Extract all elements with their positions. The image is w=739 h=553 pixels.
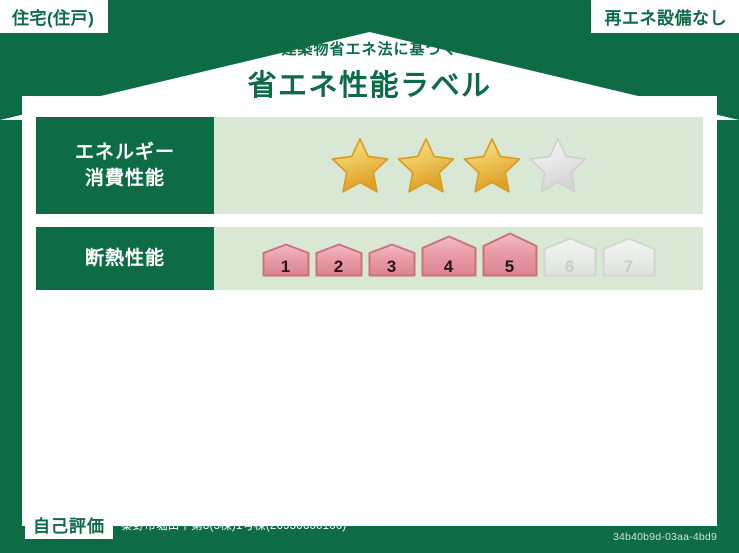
star-icon-filled [329,136,391,195]
energy-label-line2: 消費性能 [85,166,165,192]
house-level-number: 4 [421,257,477,277]
footer-left-group: 自己評価 秦野市堀山下第8(3棟)1号棟(26930600100) [25,510,346,539]
house-level-number: 3 [368,257,416,277]
house-icon-active: 4 [421,235,477,282]
house-level-number: 7 [602,257,656,277]
building-type-tag: 住宅(住戸) [0,0,108,33]
star-rating [329,136,589,195]
star-icon-empty [527,136,589,195]
house-level-number: 1 [262,257,310,277]
energy-label-line1: エネルギー [75,140,175,166]
insulation-performance-row: 断熱性能 1234567 [36,227,703,290]
label-card: エネルギー 消費性能 断熱性能 1234567 [22,108,717,489]
evaluation-id: 34b40b9d-03aa-4bd9 [560,531,717,543]
house-icon-active: 3 [368,243,416,282]
footer-right-group: 評価日 2025年9月12日 34b40b9d-03aa-4bd9 [560,508,717,543]
energy-performance-label: 住宅(住戸) 再エネ設備なし 建築物省エネ法に基づく 省エネ性能ラベル エネルギ… [0,0,739,553]
house-level-scale: 1234567 [262,232,656,286]
star-icon-filled [395,136,457,195]
house-level-number: 6 [543,257,597,277]
house-level-number: 5 [482,257,538,277]
label-title: 省エネ性能ラベル [0,62,739,104]
energy-performance-row: エネルギー 消費性能 [36,117,703,214]
house-icon-inactive: 6 [543,237,597,282]
house-icon-active: 5 [482,232,538,282]
house-level-number: 2 [315,257,363,277]
insulation-label: 断熱性能 [85,246,165,272]
evaluation-date: 評価日 2025年9月12日 [560,508,717,529]
title-block: 建築物省エネ法に基づく 省エネ性能ラベル [0,38,739,104]
label-subtitle: 建築物省エネ法に基づく [0,38,739,59]
renewable-energy-tag: 再エネ設備なし [591,0,739,33]
insulation-performance-value: 1234567 [214,227,703,290]
energy-performance-value [214,117,703,214]
property-address: 秦野市堀山下第8(3棟)1号棟(26930600100) [121,517,346,533]
label-footer: 自己評価 秦野市堀山下第8(3棟)1号棟(26930600100) 評価日 20… [0,500,739,553]
house-icon-active: 2 [315,243,363,282]
self-assessment-badge: 自己評価 [25,510,113,539]
house-icon-active: 1 [262,243,310,282]
star-icon-filled [461,136,523,195]
insulation-performance-label-head: 断熱性能 [36,227,214,290]
energy-performance-label-head: エネルギー 消費性能 [36,117,214,214]
house-icon-inactive: 7 [602,237,656,282]
